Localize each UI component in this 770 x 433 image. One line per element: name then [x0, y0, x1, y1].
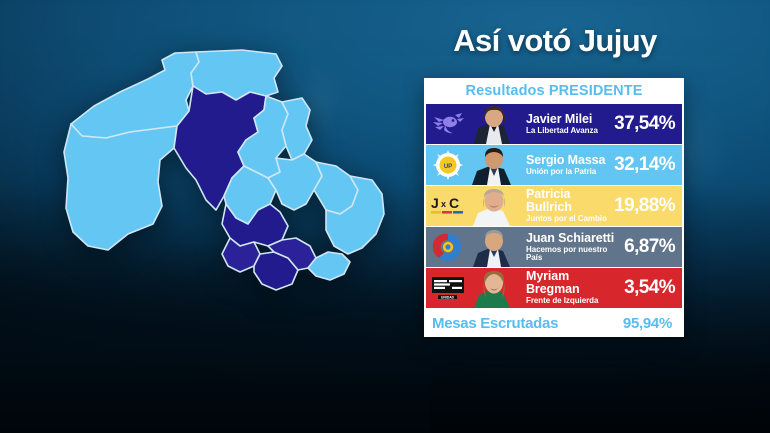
svg-text:x: x — [441, 199, 446, 209]
jujuy-province-map — [10, 48, 420, 348]
candidate-names: Patricia Bullrich Juntos por el Cambio — [526, 188, 614, 224]
svg-text:UP: UP — [444, 164, 452, 170]
party-name: Frente de Izquierda — [526, 297, 624, 305]
party-name: La Libertad Avanza — [526, 127, 614, 135]
party-name: Unión por la Patria — [526, 168, 614, 176]
frente-de-izquierda-unidad-icon: UNIDAD — [426, 268, 470, 308]
portrait-myriam-bregman — [464, 268, 524, 308]
party-name: Juntos por el Cambio — [526, 215, 614, 223]
candidate-names: Myriam Bregman Frente de Izquierda — [526, 270, 624, 306]
mesas-escrutadas-label: Mesas Escrutadas — [432, 315, 558, 332]
result-row-massa[interactable]: UP Sergio Massa Unión por la Patr — [426, 145, 682, 185]
map-dept-valle-grande — [282, 98, 312, 160]
panel-title-prefix: Resultados — [466, 83, 549, 99]
results-panel: Resultados PRESIDENTE — [424, 78, 684, 337]
candidate-name: Juan Schiaretti — [526, 232, 624, 245]
svg-text:J: J — [431, 195, 439, 211]
result-percent: 19,88% — [614, 195, 682, 217]
panel-title-strong: PRESIDENTE — [549, 83, 643, 99]
jxc-juntos-por-el-cambio-icon: J x C — [426, 186, 470, 226]
candidate-names: Juan Schiaretti Hacemos por nuestro País — [526, 232, 624, 263]
candidate-name: Javier Milei — [526, 113, 614, 126]
svg-text:UNIDAD: UNIDAD — [441, 295, 455, 299]
candidate-name: Myriam Bregman — [526, 270, 624, 296]
result-row-bullrich[interactable]: J x C — [426, 186, 682, 226]
mesas-escrutadas-value: 95,94% — [623, 315, 676, 332]
party-name: Hacemos por nuestro País — [526, 246, 624, 263]
result-row-milei[interactable]: Javier Milei La Libertad Avanza 37,54% — [426, 104, 682, 144]
result-percent: 37,54% — [614, 113, 682, 135]
mesas-escrutadas-row: Mesas Escrutadas 95,94% — [424, 309, 684, 337]
page-title: Así votó Jujuy — [424, 24, 686, 57]
sun-union-por-la-patria-icon: UP — [426, 145, 470, 185]
result-percent: 32,14% — [614, 154, 682, 176]
result-row-bregman[interactable]: UNIDAD Myriam Bregman Frente de Izquierd… — [426, 268, 682, 308]
result-percent: 6,87% — [624, 236, 682, 258]
panel-title: Resultados PRESIDENTE — [424, 78, 684, 104]
candidate-names: Javier Milei La Libertad Avanza — [526, 113, 614, 136]
candidate-names: Sergio Massa Unión por la Patria — [526, 154, 614, 177]
result-row-schiaretti[interactable]: Juan Schiaretti Hacemos por nuestro País… — [426, 227, 682, 267]
swirl-hacemos-por-nuestro-pais-icon — [426, 227, 470, 267]
svg-text:C: C — [449, 195, 459, 211]
portrait-javier-milei — [464, 104, 524, 144]
candidate-name: Patricia Bullrich — [526, 188, 614, 214]
portrait-patricia-bullrich — [464, 186, 524, 226]
lion-libertad-avanza-icon — [426, 104, 470, 144]
portrait-juan-schiaretti — [464, 227, 524, 267]
result-percent: 3,54% — [624, 277, 682, 299]
map-dept-rinconada — [64, 124, 177, 250]
results-rows: Javier Milei La Libertad Avanza 37,54% — [424, 104, 684, 308]
candidate-name: Sergio Massa — [526, 154, 614, 167]
infographic-stage: Así votó Jujuy Resultados PRESIDENTE — [0, 0, 770, 433]
portrait-sergio-massa — [464, 145, 524, 185]
